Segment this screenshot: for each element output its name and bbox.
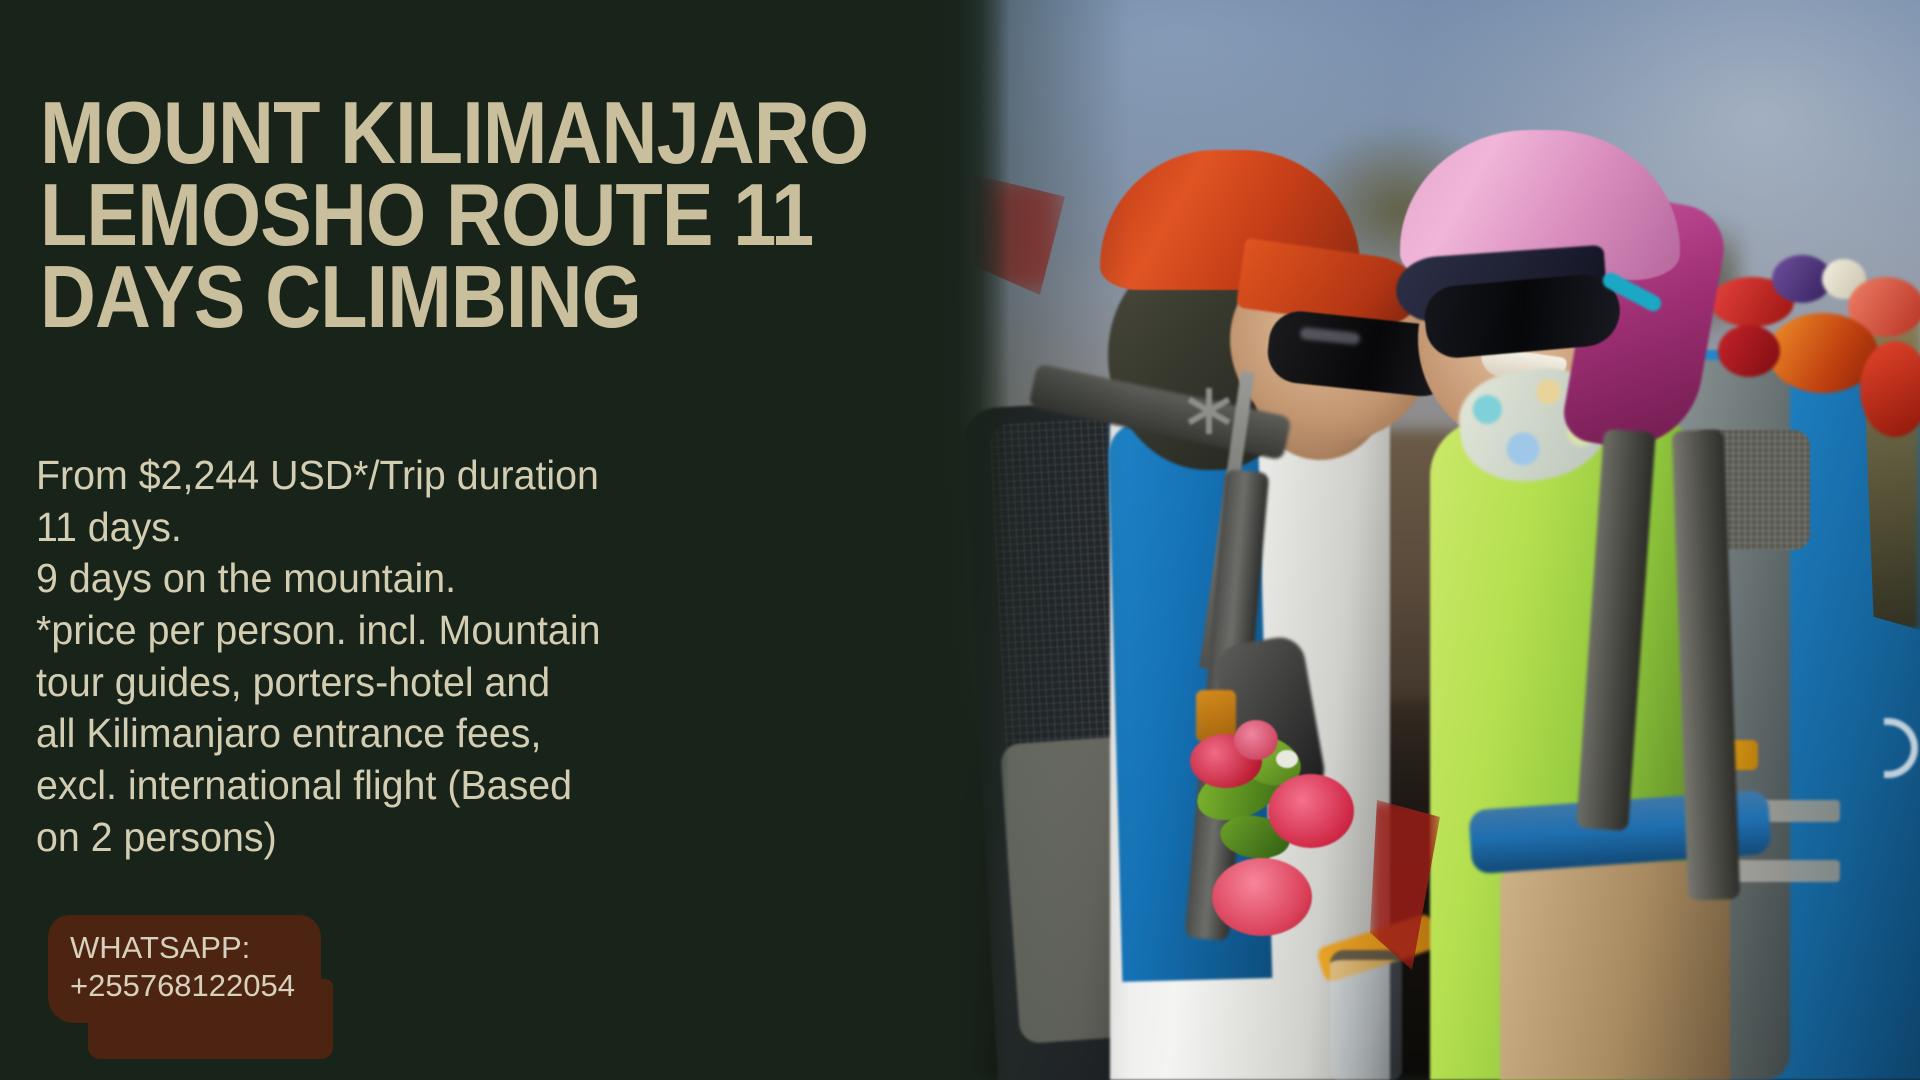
text-content: MOUNT KILIMANJARO LEMOSHO ROUTE 11 DAYS … (0, 0, 1010, 1080)
flower-petal (1268, 774, 1354, 848)
colorful-pack-bundle (1710, 255, 1920, 455)
page-title: MOUNT KILIMANJARO LEMOSHO ROUTE 11 DAYS … (40, 92, 1008, 337)
pink-flowers (1190, 720, 1370, 940)
flower-petal (1212, 858, 1312, 936)
flower-small-white (1276, 750, 1298, 768)
poster-canvas: MOUNT KILIMANJARO LEMOSHO ROUTE 11 DAYS … (0, 0, 1920, 1080)
flower-petal (1234, 720, 1278, 760)
water-bottle (1330, 950, 1402, 1080)
bundle-item (1718, 325, 1780, 377)
whatsapp-contact-badge[interactable]: WHATSAPP: +255768122054 (48, 915, 321, 1023)
trekking-pole-basket (1186, 388, 1232, 434)
trip-details-paragraph: From $2,244 USD*/Trip duration 11 days. … (36, 450, 900, 863)
whatsapp-contact-text: WHATSAPP: +255768122054 (70, 930, 295, 1003)
bundle-item (1860, 341, 1920, 437)
